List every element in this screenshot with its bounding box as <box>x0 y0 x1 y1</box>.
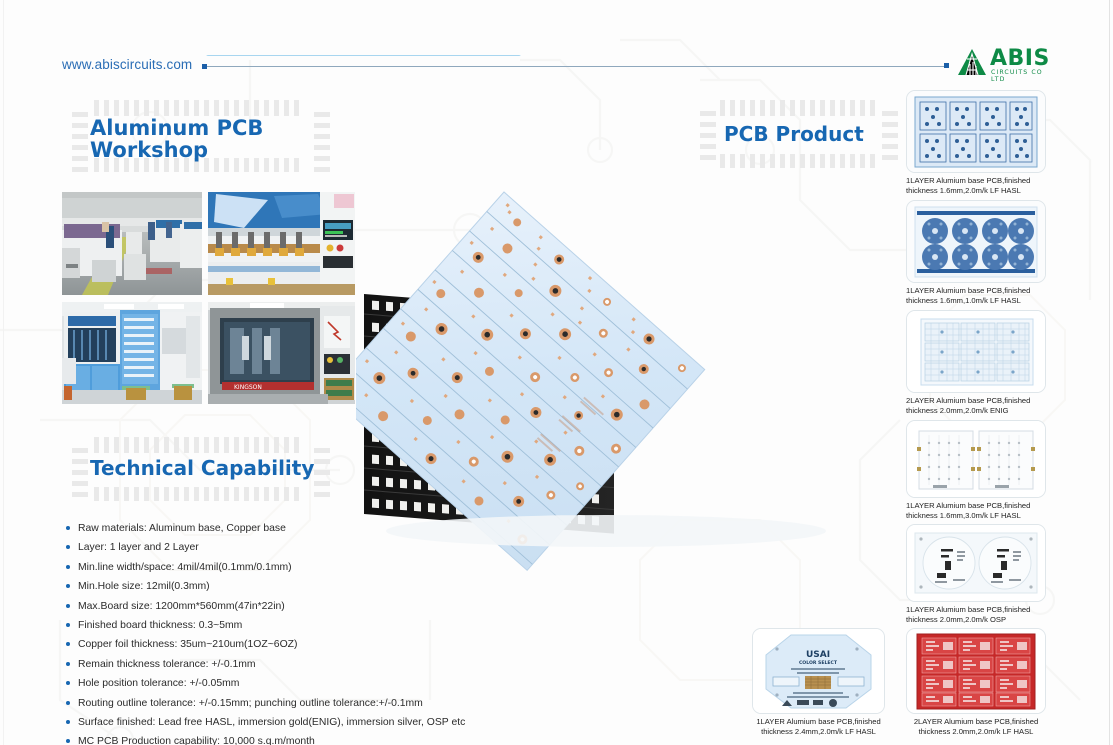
tech-item: Finished board thickness: 0.3~5mm <box>64 616 484 635</box>
workshop-photo-smt-line[interactable] <box>62 192 202 295</box>
tech-item: Min.line width/space: 4mil/4mil(0.1mm/0.… <box>64 558 484 577</box>
poster-page: www.abiscircuits.com ABIS CIRCUITS CO LT… <box>0 0 1113 745</box>
abis-logo[interactable]: ABIS CIRCUITS CO LTD <box>957 46 1057 80</box>
product-image-6: USAI COLOR SELECT <box>752 628 885 714</box>
heading-pcb-product: PCB Product <box>700 100 898 168</box>
tech-item: Layer: 1 layer and 2 Layer <box>64 538 484 557</box>
svg-text:USAI: USAI <box>806 650 830 660</box>
brand-bullet-dot <box>944 63 949 68</box>
chip-pins-right <box>314 448 330 497</box>
product-caption-3: 2LAYER Alumium base PCB,finished thickne… <box>906 396 1046 415</box>
product-card-3[interactable]: 2LAYER Alumium base PCB,finished thickne… <box>906 310 1046 415</box>
svg-text:COLOR SELECT: COLOR SELECT <box>799 660 838 666</box>
product-image-1 <box>906 90 1046 173</box>
product-caption-6: 1LAYER Alumium base PCB,finished thickne… <box>752 717 885 736</box>
product-card-4[interactable]: 1LAYER Alumium base PCB,finished thickne… <box>906 420 1046 520</box>
brand-name: ABIS <box>990 46 1050 71</box>
brand-subtitle: CIRCUITS CO LTD <box>991 69 1057 83</box>
workshop-photo-routing-machine[interactable] <box>208 192 355 295</box>
workshop-photo-clean-room[interactable] <box>62 302 202 404</box>
product-card-1[interactable]: 1LAYER Alumium base PCB,finished thickne… <box>906 90 1046 195</box>
chip-pins-top <box>720 100 875 116</box>
technical-capability-list: Raw materials: Aluminum base, Copper bas… <box>64 519 484 745</box>
tech-item: Hole position tolerance: +/-0.05mm <box>64 674 484 693</box>
tech-item: Routing outline tolerance: +/-0.15mm; pu… <box>64 694 484 713</box>
tech-item: Copper foil thickness: 35um~210um(1OZ~6O… <box>64 635 484 654</box>
chip-pins-right <box>314 112 330 172</box>
chip-pins-top <box>94 437 299 453</box>
product-caption-7: 2LAYER Alumium base PCB,finished thickne… <box>906 717 1046 736</box>
header-rule-raised <box>228 55 498 56</box>
tech-item: Surface finished: Lead free HASL, immers… <box>64 713 484 732</box>
chip-pins-left <box>700 111 716 160</box>
svg-text:KINGSON: KINGSON <box>234 384 262 391</box>
product-card-5[interactable]: 1LAYER Alumium base PCB,finished thickne… <box>906 524 1046 624</box>
product-caption-5: 1LAYER Alumium base PCB,finished thickne… <box>906 605 1046 624</box>
tech-item: Remain thickness tolerance: +/-0.1mm <box>64 655 484 674</box>
chip-pins-left <box>72 448 88 497</box>
chip-pins-bottom <box>720 154 875 168</box>
product-image-3 <box>906 310 1046 393</box>
heading-aluminum-pcb-workshop: Aluminum PCB Workshop <box>72 100 330 172</box>
chip-pins-left <box>72 112 88 172</box>
product-caption-4: 1LAYER Alumium base PCB,finished thickne… <box>906 501 1046 520</box>
tech-item: Raw materials: Aluminum base, Copper bas… <box>64 519 484 538</box>
chip-pins-bottom <box>94 487 299 501</box>
product-image-7 <box>906 628 1046 714</box>
site-url[interactable]: www.abiscircuits.com <box>62 57 192 72</box>
technical-title: Technical Capability <box>90 458 314 479</box>
workshop-photo-test-equipment[interactable]: KINGSON <box>208 302 355 404</box>
chip-pins-top <box>94 100 299 116</box>
product-card-7[interactable]: 2LAYER Alumium base PCB,finished thickne… <box>906 628 1046 736</box>
heading-technical-capability: Technical Capability <box>72 437 330 501</box>
chip-pins-right <box>882 111 898 160</box>
header-rule <box>207 66 947 67</box>
page-edge-left <box>3 0 4 745</box>
product-title: PCB Product <box>724 124 864 145</box>
product-caption-2: 1LAYER Alumium base PCB,finished thickne… <box>906 286 1046 305</box>
tech-item: MC PCB Production capability: 10,000 s.q… <box>64 732 484 745</box>
tech-item: Min.Hole size: 12mil(0.3mm) <box>64 577 484 596</box>
abis-logo-mark-icon <box>957 48 987 76</box>
product-card-6[interactable]: USAI COLOR SELECT <box>752 628 885 736</box>
page-edge-right <box>1109 0 1110 745</box>
product-caption-1: 1LAYER Alumium base PCB,finished thickne… <box>906 176 1046 195</box>
product-card-2[interactable]: 1LAYER Alumium base PCB,finished thickne… <box>906 200 1046 305</box>
product-image-2 <box>906 200 1046 283</box>
tech-item: Max.Board size: 1200mm*560mm(47in*22in) <box>64 597 484 616</box>
workshop-title: Aluminum PCB Workshop <box>90 117 263 161</box>
product-image-5 <box>906 524 1046 602</box>
product-image-4 <box>906 420 1046 498</box>
